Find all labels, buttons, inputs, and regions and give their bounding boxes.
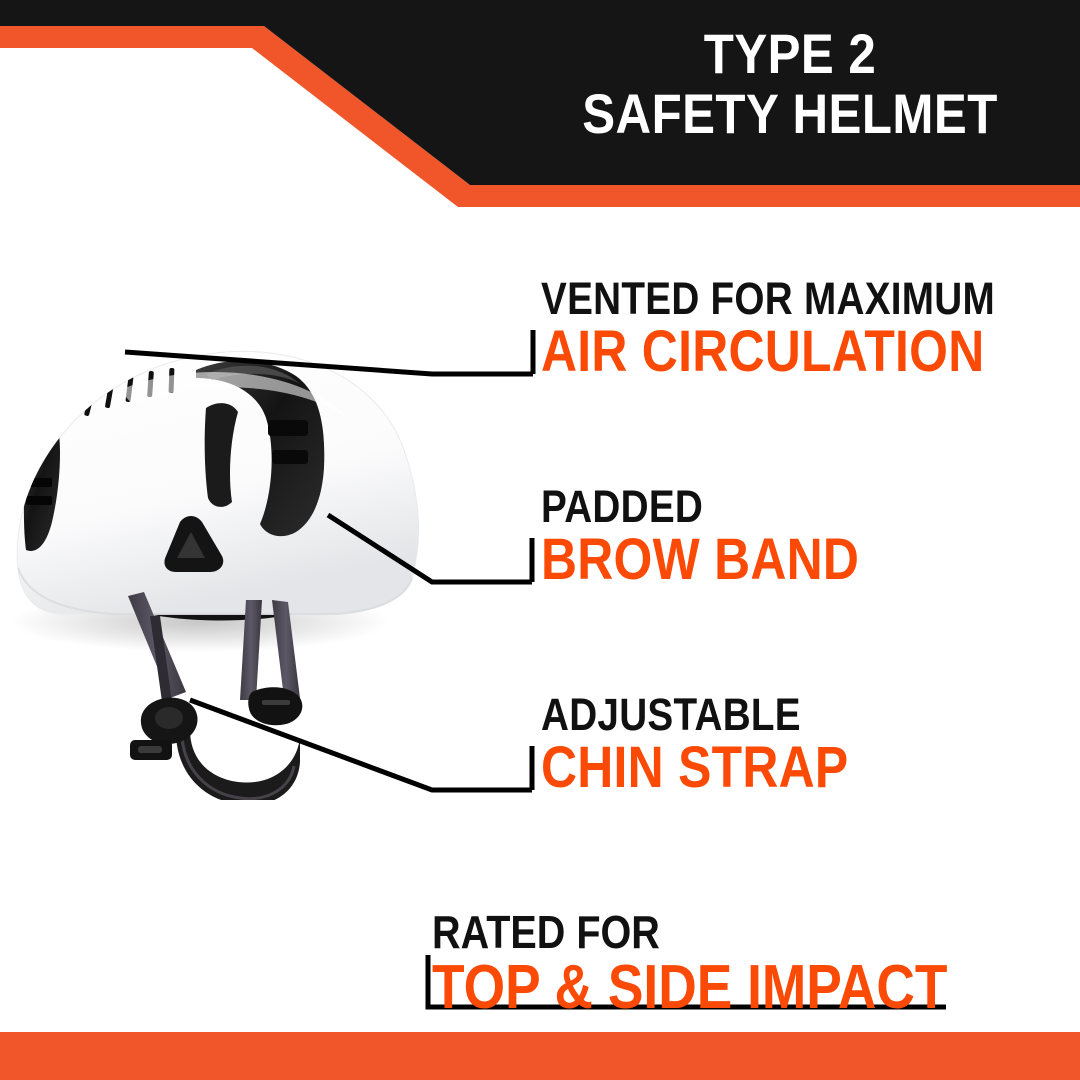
callout-chin-strap-top: ADJUSTABLE (541, 692, 848, 738)
callout-air-circulation-top: VENTED FOR MAXIMUM (541, 276, 995, 322)
callout-air-circulation-bottom: AIR CIRCULATION (541, 322, 995, 382)
bottom-rating-top: RATED FOR (432, 908, 948, 956)
leader-line-brow-band (328, 515, 532, 582)
bottom-rating-bottom: TOP & SIDE IMPACT (432, 956, 948, 1020)
footer-accent-bar (0, 1032, 1080, 1080)
callout-chin-strap-bottom: CHIN STRAP (541, 738, 848, 798)
callout-brow-band-bottom: BROW BAND (541, 530, 859, 590)
bottom-rating-block: RATED FOR TOP & SIDE IMPACT (432, 908, 1031, 1020)
callout-chin-strap: ADJUSTABLE CHIN STRAP (541, 692, 898, 798)
callout-brow-band-top: PADDED (541, 484, 859, 530)
infographic-page: TYPE 2 SAFETY HELMET (0, 0, 1080, 1080)
callout-air-circulation: VENTED FOR MAXIMUM AIR CIRCULATION (541, 276, 1069, 382)
leader-line-air-circulation (125, 352, 533, 374)
leader-line-chin-strap (190, 700, 532, 790)
callout-brow-band: PADDED BROW BAND (541, 484, 911, 590)
